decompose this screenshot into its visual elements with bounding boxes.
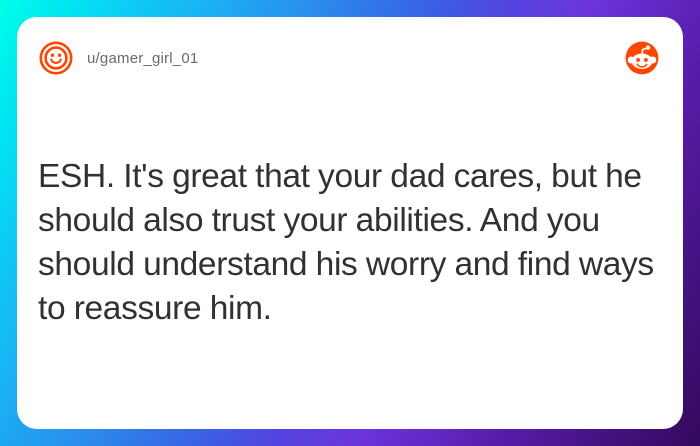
reddit-comment-card: u/gamer_girl_01: [17, 17, 683, 429]
card-header: u/gamer_girl_01: [39, 35, 661, 81]
reddit-snoo-logo-icon: [625, 41, 659, 75]
screenshot-root: u/gamer_girl_01: [0, 0, 700, 446]
comment-text: ESH. It's great that your dad cares, but…: [38, 155, 663, 331]
avatar: [39, 41, 73, 75]
username-label: u/gamer_girl_01: [87, 50, 198, 67]
